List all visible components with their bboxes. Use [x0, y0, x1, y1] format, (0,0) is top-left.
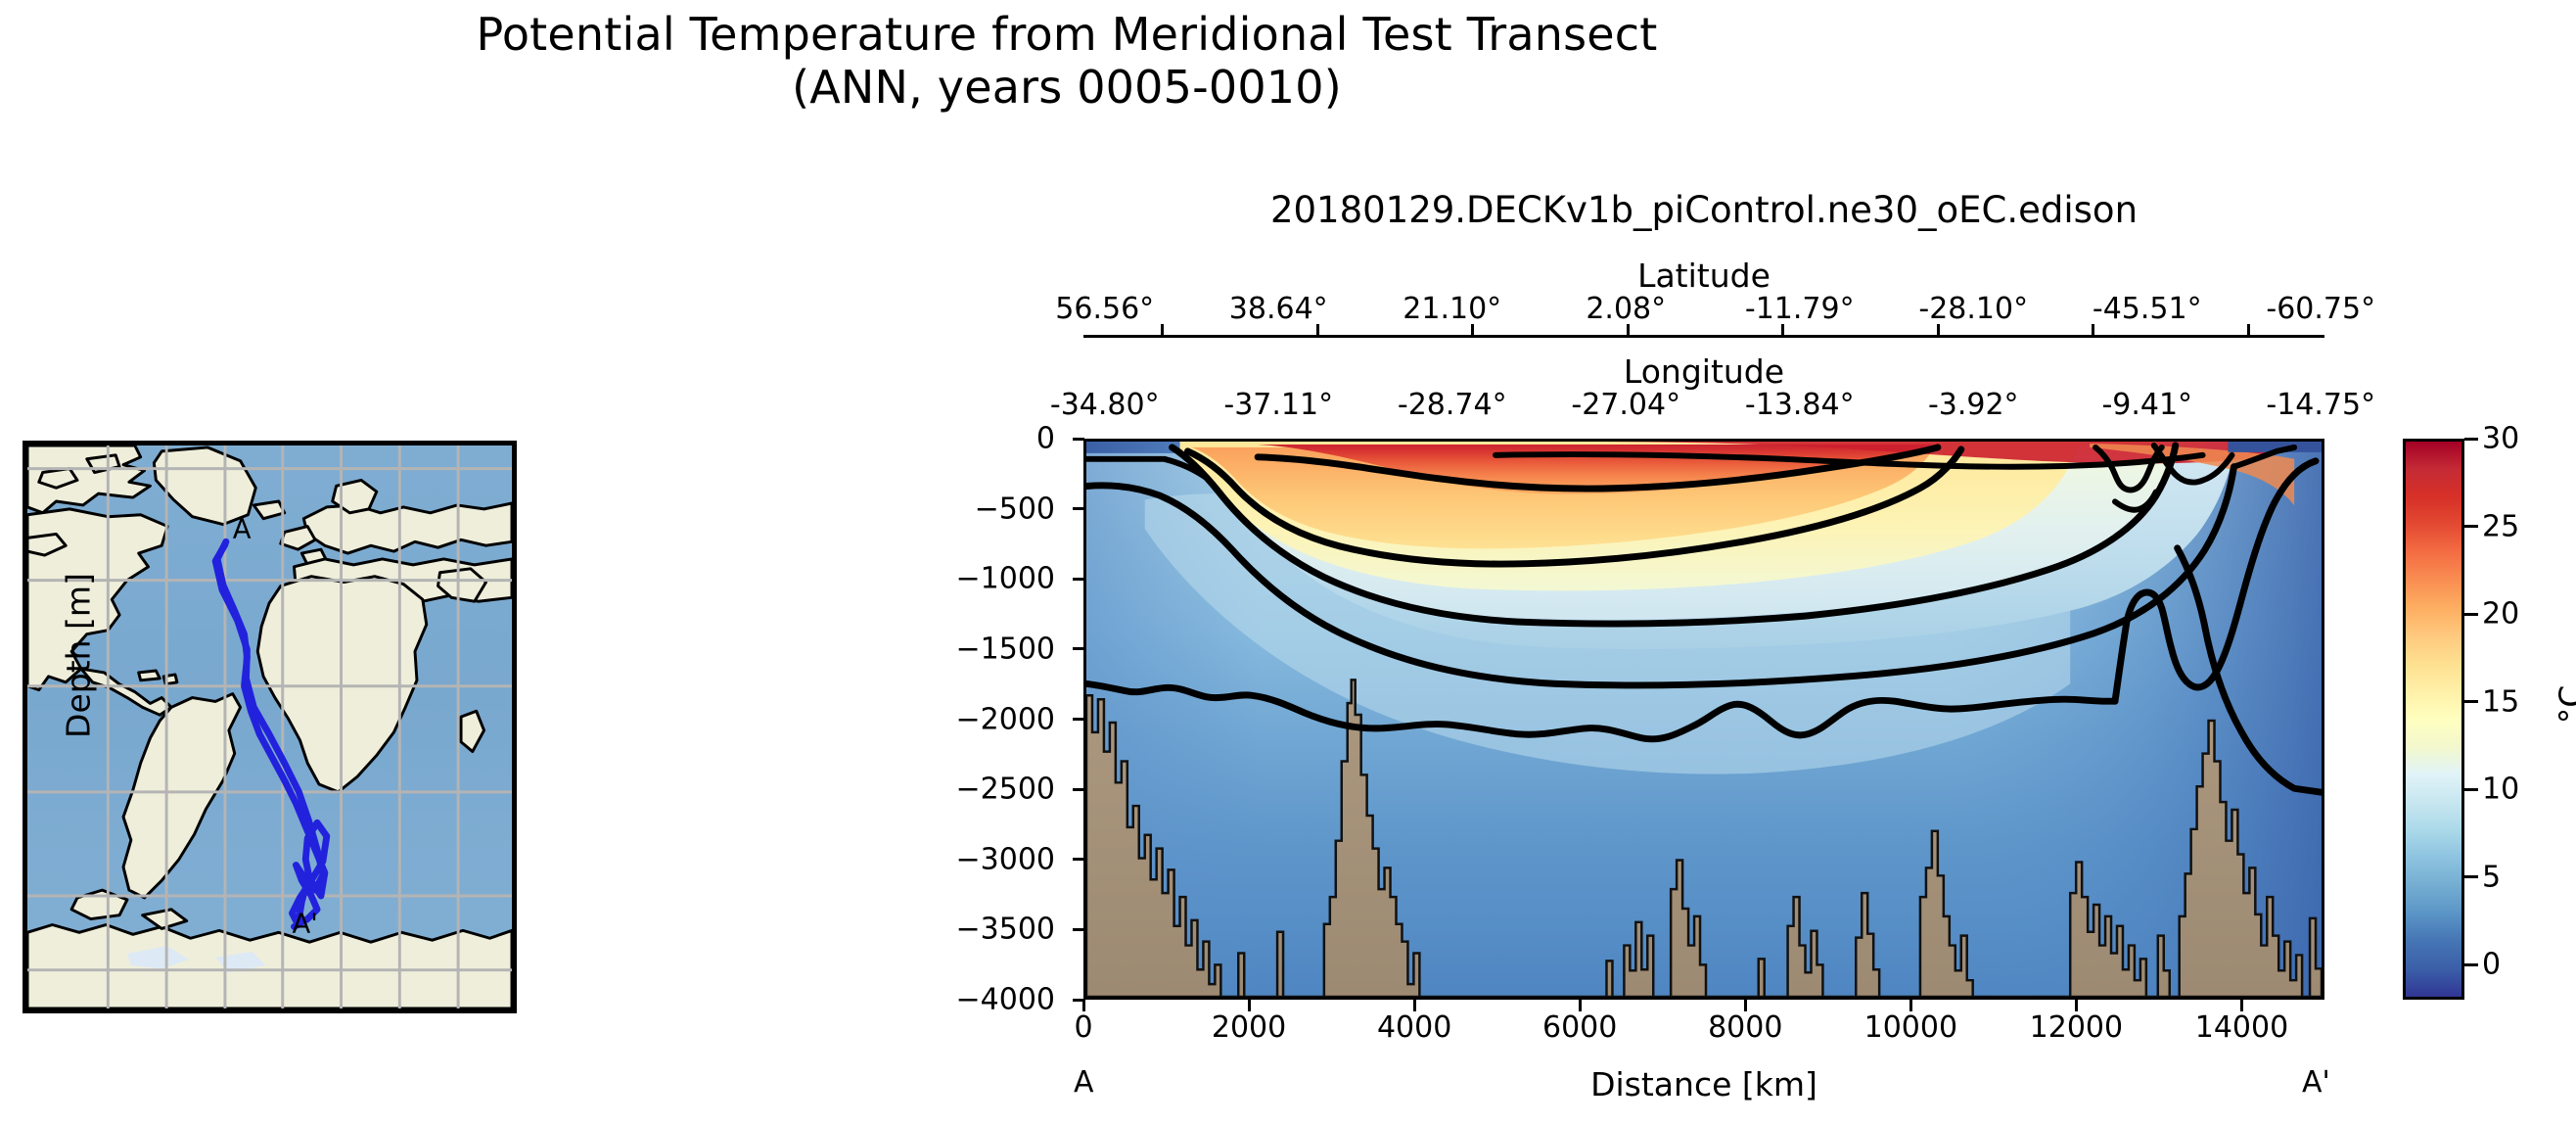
- colorbar-tick-mark-1: [2464, 875, 2478, 878]
- latitude-tick-1: 38.64°: [1192, 292, 1366, 326]
- map-label-A: A: [233, 513, 252, 544]
- latitude-axis-spine: [1083, 335, 2324, 338]
- colorbar-gradient: [2406, 442, 2461, 997]
- colorbar-tick-mark-5: [2464, 525, 2478, 528]
- distance-tick-label-1: 2000: [1212, 1010, 1286, 1045]
- depth-tick-mark-2: [1073, 578, 1084, 581]
- longitude-tick-2: -28.74°: [1365, 388, 1540, 422]
- distance-tick-label-6: 12000: [2030, 1010, 2123, 1045]
- distance-tick-labels: 02000400060008000100001200014000: [1083, 1010, 2324, 1054]
- cross-section-svg: [1086, 442, 2322, 997]
- colorbar: [2403, 439, 2464, 1000]
- latitude-tick-mark-4: [1781, 324, 1784, 336]
- longitude-tick-0: -34.80°: [1018, 388, 1192, 422]
- panel-title: 20180129.DECKv1b_piControl.ne30_oEC.edis…: [1083, 189, 2324, 231]
- latitude-tick-3: 2.08°: [1540, 292, 1714, 326]
- depth-tick-label-3: −1500: [956, 632, 1055, 666]
- latitude-tick-mark-3: [1627, 324, 1630, 336]
- colorbar-tick-mark-6: [2464, 438, 2478, 441]
- latitude-tick-2: 21.10°: [1365, 292, 1540, 326]
- transect-endpoint-end: A': [2302, 1065, 2330, 1100]
- longitude-tick-3: -27.04°: [1540, 388, 1714, 422]
- depth-tick-label-7: −3500: [956, 913, 1055, 947]
- depth-tick-labels: 0−500−1000−1500−2000−2500−3000−3500−4000: [920, 439, 1077, 1000]
- colorbar-tick-mark-0: [2464, 963, 2478, 966]
- latitude-tick-mark-5: [1937, 324, 1940, 336]
- depth-tick-label-8: −4000: [956, 983, 1055, 1017]
- latitude-tick-mark-1: [1316, 324, 1319, 336]
- latitude-tick-0: 56.56°: [1018, 292, 1192, 326]
- colorbar-tick-label-0: 0: [2482, 948, 2501, 982]
- depth-tick-mark-6: [1073, 858, 1084, 861]
- colorbar-tick-label-2: 10: [2482, 773, 2519, 807]
- latitude-tick-4: -11.79°: [1713, 292, 1887, 326]
- depth-tick-mark-5: [1073, 788, 1084, 791]
- map-svg: A A': [27, 445, 512, 1008]
- colorbar-tick-mark-3: [2464, 700, 2478, 703]
- colorbar-unit-label: °C: [2553, 661, 2576, 749]
- colorbar-tick-label-1: 5: [2482, 860, 2501, 894]
- distance-tick-label-2: 4000: [1377, 1010, 1451, 1045]
- depth-tick-mark-4: [1073, 718, 1084, 721]
- longitude-tick-7: -14.75°: [2234, 388, 2409, 422]
- suptitle-line-2: (ANN, years 0005-0010): [0, 61, 2134, 114]
- figure-suptitle: Potential Temperature from Meridional Te…: [0, 8, 2134, 115]
- distance-tick-label-0: 0: [1074, 1010, 1092, 1045]
- figure-canvas: Potential Temperature from Meridional Te…: [0, 0, 2576, 1125]
- longitude-tick-5: -3.92°: [1887, 388, 2061, 422]
- longitude-tick-6: -9.41°: [2060, 388, 2234, 422]
- distance-tick-label-7: 14000: [2195, 1010, 2288, 1045]
- depth-tick-mark-0: [1073, 438, 1084, 441]
- latitude-tick-7: -60.75°: [2234, 292, 2409, 326]
- cross-section-plot: [1083, 439, 2324, 1000]
- colorbar-tick-label-5: 25: [2482, 509, 2519, 543]
- depth-tick-label-5: −2500: [956, 773, 1055, 807]
- distance-tick-label-5: 10000: [1864, 1010, 1957, 1045]
- depth-tick-label-4: −2000: [956, 702, 1055, 736]
- latitude-tick-5: -28.10°: [1887, 292, 2061, 326]
- colorbar-tick-label-6: 30: [2482, 422, 2519, 456]
- latitude-axis-label: Latitude: [1083, 257, 2324, 295]
- depth-axis-label: Depth [m]: [60, 509, 98, 803]
- depth-tick-label-2: −1000: [956, 562, 1055, 596]
- depth-tick-mark-7: [1073, 928, 1084, 931]
- distance-axis-label: Distance [km]: [1083, 1065, 2324, 1103]
- transect-endpoint-start: A: [1074, 1065, 1094, 1100]
- depth-tick-mark-3: [1073, 647, 1084, 650]
- latitude-tick-mark-6: [2092, 324, 2094, 336]
- depth-tick-label-0: 0: [1036, 422, 1055, 456]
- depth-tick-marks: [1073, 439, 1084, 1000]
- distance-tick-label-3: 6000: [1542, 1010, 1617, 1045]
- longitude-tick-1: -37.11°: [1192, 388, 1366, 422]
- north-cold-surface-cap: [1086, 442, 1180, 453]
- latitude-tick-mark-0: [1161, 324, 1164, 336]
- colorbar-tick-mark-2: [2464, 788, 2478, 791]
- colorbar-tick-label-4: 20: [2482, 597, 2519, 632]
- depth-tick-mark-1: [1073, 507, 1084, 510]
- depth-tick-label-6: −3000: [956, 842, 1055, 876]
- latitude-tick-labels: 56.56°38.64°21.10°2.08°-11.79°-28.10°-45…: [1018, 292, 2408, 326]
- latitude-tick-6: -45.51°: [2060, 292, 2234, 326]
- longitude-tick-4: -13.84°: [1713, 388, 1887, 422]
- colorbar-tick-label-3: 15: [2482, 684, 2519, 719]
- longitude-axis-label: Longitude: [1083, 352, 2324, 391]
- distance-tick-label-4: 8000: [1708, 1010, 1782, 1045]
- depth-tick-label-1: −500: [975, 492, 1055, 526]
- latitude-tick-mark-7: [2247, 324, 2250, 336]
- suptitle-line-1: Potential Temperature from Meridional Te…: [477, 8, 1658, 61]
- latitude-tick-mark-2: [1471, 324, 1474, 336]
- map-label-A-prime: A': [293, 908, 318, 939]
- colorbar-tick-mark-4: [2464, 613, 2478, 616]
- longitude-tick-labels: -34.80°-37.11°-28.74°-27.04°-13.84°-3.92…: [1018, 388, 2408, 422]
